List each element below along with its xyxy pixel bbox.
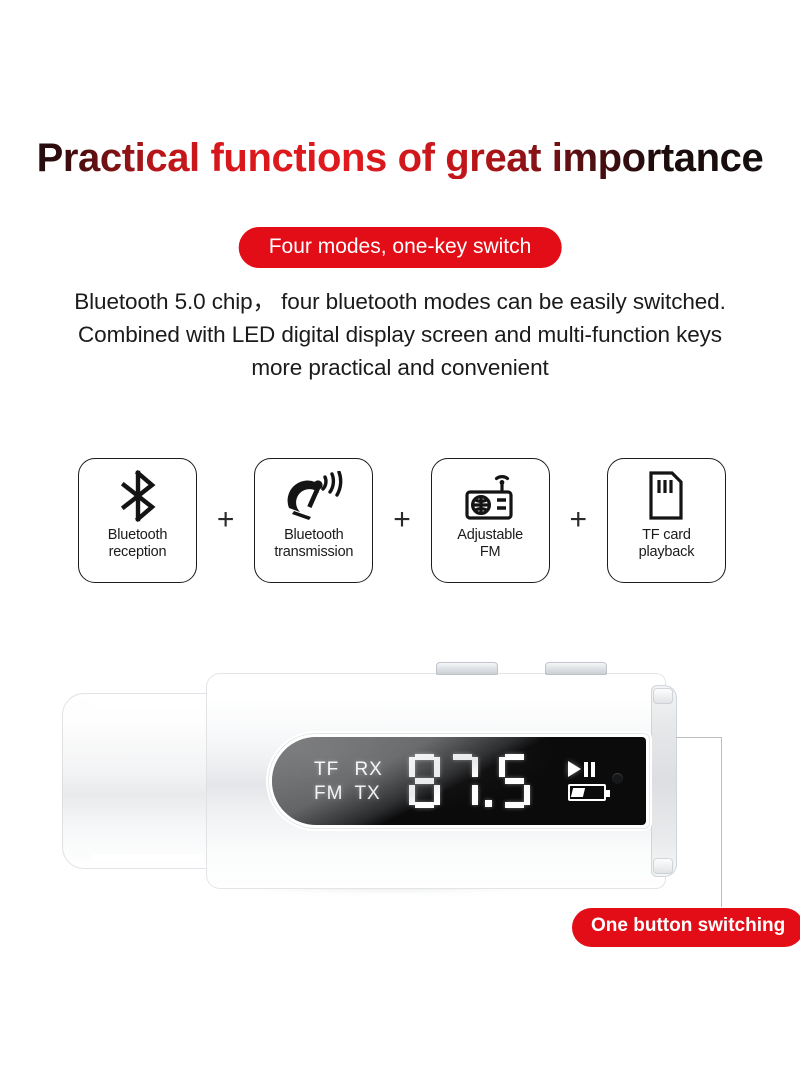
feature-box-adjustable-fm: Adjustable FM	[431, 458, 550, 583]
callout-badge-one-button-switching: One button switching	[572, 908, 800, 947]
mode-label-tf: TF	[314, 760, 343, 779]
feature-label-adjustable-fm: Adjustable FM	[457, 527, 523, 562]
page-title: Practical functions of great importance	[0, 137, 800, 179]
usb-a-connector	[62, 693, 222, 869]
plus-separator-1: +	[213, 505, 239, 535]
description-paragraph: Bluetooth 5.0 chip， four bluetooth modes…	[0, 285, 800, 384]
feature-label-tf-card-playback: TF card playback	[639, 527, 695, 562]
feature-box-bluetooth-transmission: Bluetooth transmission	[254, 458, 373, 583]
feature-label-line-2: playback	[639, 544, 695, 562]
mode-label-tx: TX	[354, 784, 382, 803]
callout-leader-horizontal	[676, 737, 722, 738]
bluetooth-icon	[118, 467, 158, 525]
feature-box-tf-card-playback: TF card playback	[607, 458, 726, 583]
sub-banner-badge: Four modes, one-key switch	[239, 227, 562, 268]
seven-segment-digit-2	[447, 754, 478, 808]
play-triangle	[568, 761, 581, 777]
status-icon-stack	[568, 761, 606, 801]
feature-label-line-1: Bluetooth	[284, 527, 343, 543]
feature-label-line-2: transmission	[274, 544, 353, 562]
product-photo: TF RX FM TX	[0, 645, 800, 935]
end-cap-notch-bottom	[653, 858, 673, 874]
frequency-readout	[409, 754, 530, 808]
play-pause-icon	[568, 761, 595, 777]
satellite-dish-icon	[285, 467, 343, 525]
seven-segment-digit-3	[499, 754, 530, 808]
feature-label-line-1: Adjustable	[457, 527, 523, 543]
decimal-point	[485, 800, 492, 807]
plus-separator-3: +	[565, 505, 591, 535]
top-button-2[interactable]	[545, 662, 607, 675]
seven-segment-digit-1	[409, 754, 440, 808]
feature-box-bluetooth-reception: Bluetooth reception	[78, 458, 197, 583]
led-display-screen: TF RX FM TX	[272, 737, 646, 825]
feature-label-line-1: TF card	[642, 527, 691, 543]
pause-bar-1	[584, 762, 588, 777]
mode-label-rx: RX	[354, 760, 382, 779]
feature-label-bluetooth-transmission: Bluetooth transmission	[274, 527, 353, 562]
plus-separator-2: +	[389, 505, 415, 535]
pinhole-indicator	[612, 773, 623, 784]
feature-label-line-1: Bluetooth	[108, 527, 167, 543]
led-readout: TF RX FM TX	[272, 737, 646, 825]
connector-highlight-top	[92, 700, 204, 709]
pause-bar-2	[591, 762, 595, 777]
connector-highlight-bottom	[92, 854, 204, 862]
description-line-1: Bluetooth 5.0 chip， four bluetooth modes…	[0, 285, 800, 318]
battery-low-icon	[568, 784, 606, 801]
feature-label-line-2: FM	[457, 544, 523, 562]
callout-leader-vertical	[721, 737, 722, 907]
memory-card-icon	[645, 467, 687, 525]
device-end-cap	[651, 685, 677, 877]
mode-label-fm: FM	[314, 784, 343, 803]
top-button-1[interactable]	[436, 662, 498, 675]
end-cap-notch-top	[653, 688, 673, 704]
feature-label-line-2: reception	[108, 544, 167, 562]
description-line-3: more practical and convenient	[0, 351, 800, 384]
battery-level-fill	[571, 788, 585, 797]
mode-indicator-grid: TF RX FM TX	[314, 757, 383, 805]
feature-row: Bluetooth reception + Bluet	[78, 455, 726, 585]
radio-icon	[462, 467, 518, 525]
description-line-2: Combined with LED digital display screen…	[0, 318, 800, 351]
feature-label-bluetooth-reception: Bluetooth reception	[108, 527, 167, 562]
